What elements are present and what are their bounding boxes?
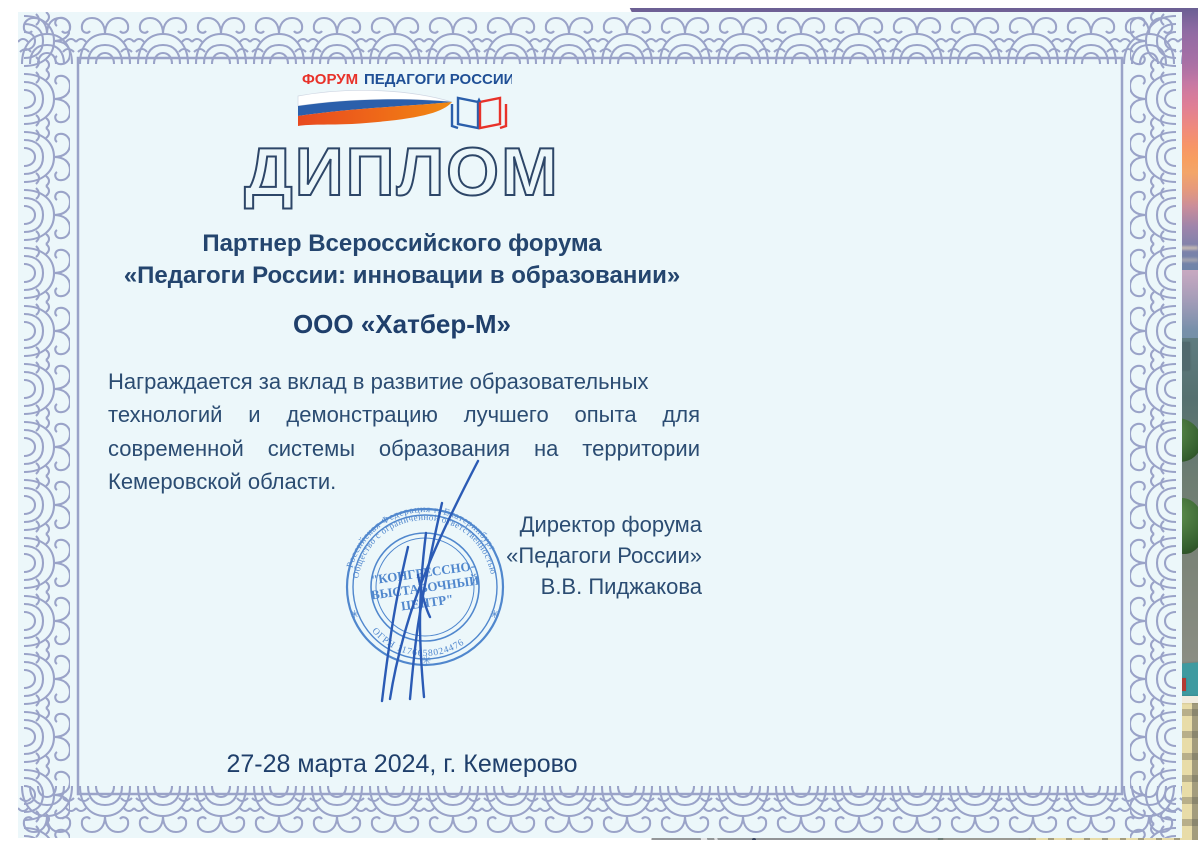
building [1080, 342, 1190, 370]
cornice [1030, 696, 1198, 703]
tree [900, 768, 930, 794]
building-roof [1070, 388, 1140, 406]
forum-logo: ФОРУМ ПЕДАГОГИ РОССИИ [292, 68, 512, 134]
building-facade [1030, 700, 1198, 840]
pedestrian [648, 800, 652, 809]
tree [836, 398, 884, 438]
tree [1115, 448, 1167, 496]
building-roof [740, 372, 890, 390]
open-book-icon [452, 98, 506, 128]
building-roof [1068, 408, 1154, 430]
tree [1160, 498, 1198, 554]
building-roof [899, 428, 1071, 450]
pedestrian [752, 838, 756, 840]
page-title: ДИПЛОМ [92, 138, 712, 206]
tree [990, 638, 1044, 688]
date-and-place: 27-28 марта 2024, г. Кемерово [92, 750, 712, 779]
pole [938, 808, 943, 840]
certificate-page: ФОРУМ ПЕДАГОГИ РОССИИ [0, 0, 1200, 850]
forum-logo-graphic: ФОРУМ ПЕДАГОГИ РОССИИ [292, 68, 512, 134]
body-line-1: Награждается за вклад в развитие образов… [108, 365, 700, 398]
tree [860, 638, 896, 668]
cornice [950, 514, 1135, 522]
building [750, 344, 810, 366]
building-roof [916, 390, 1004, 399]
recipient-name: ООО «Хатбер-М» [92, 309, 712, 340]
handwritten-signature [330, 455, 530, 705]
building [815, 340, 863, 366]
pedestrian [768, 810, 772, 819]
building-roof [1030, 372, 1090, 386]
logo-pedagogi-word: ПЕДАГОГИ РОССИИ [364, 71, 512, 88]
pedestrian [728, 828, 732, 837]
subtitle-line-1: Партнер Всероссийского форума [92, 228, 712, 260]
pedestrian [662, 818, 666, 827]
subtitle: Партнер Всероссийского форума «Педагоги … [92, 228, 712, 291]
pedestrian [618, 808, 622, 817]
tree [780, 448, 822, 488]
tower [972, 298, 977, 350]
subtitle-line-2: «Педагоги России: инновации в образовани… [92, 260, 712, 292]
body-line-2: технологий и демонстрацию лучшего опыта … [108, 398, 700, 431]
rooftop-sign [1140, 678, 1186, 691]
building-facade-dark [830, 520, 950, 630]
tree [1070, 584, 1116, 628]
logo-forum-word: ФОРУМ [302, 71, 358, 88]
